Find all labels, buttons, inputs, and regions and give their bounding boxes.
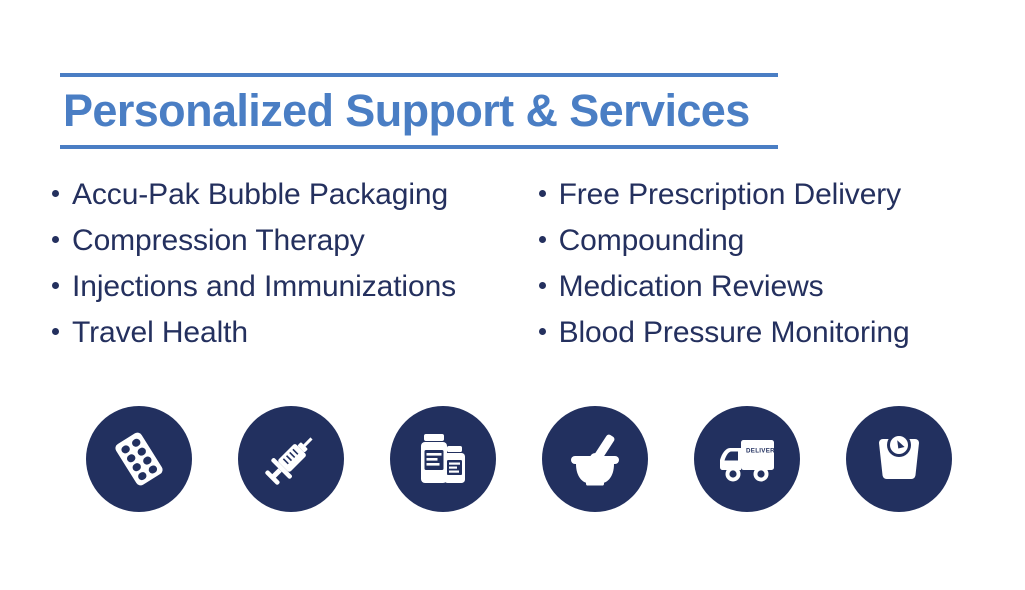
icon-badge-mortar-pestle	[542, 406, 648, 512]
list-item: Accu-Pak Bubble Packaging	[52, 178, 528, 224]
bullet-dot-icon	[539, 282, 546, 289]
weight-scale-icon	[867, 427, 931, 491]
pill-bottles-icon	[411, 427, 475, 491]
list-item: Medication Reviews	[539, 270, 1025, 316]
services-left-column: Accu-Pak Bubble Packaging Compression Th…	[0, 178, 528, 362]
service-label: Accu-Pak Bubble Packaging	[72, 178, 448, 212]
list-item: Free Prescription Delivery	[539, 178, 1025, 224]
services-columns: Accu-Pak Bubble Packaging Compression Th…	[0, 178, 1025, 362]
service-label: Compounding	[559, 224, 745, 258]
list-item: Blood Pressure Monitoring	[539, 316, 1025, 362]
service-label: Injections and Immunizations	[72, 270, 456, 304]
icon-row: DELIVERY	[86, 406, 958, 512]
syringe-icon	[259, 427, 323, 491]
bullet-dot-icon	[52, 282, 59, 289]
bullet-dot-icon	[539, 328, 546, 335]
icon-badge-syringe	[238, 406, 344, 512]
list-item: Travel Health	[52, 316, 528, 362]
bullet-dot-icon	[539, 190, 546, 197]
list-item: Compounding	[539, 224, 1025, 270]
bullet-dot-icon	[52, 236, 59, 243]
service-label: Blood Pressure Monitoring	[559, 316, 910, 350]
slide-canvas: Personalized Support & Services Accu-Pak…	[0, 0, 1025, 590]
mortar-and-pestle-icon	[563, 427, 627, 491]
service-label: Free Prescription Delivery	[559, 178, 902, 212]
icon-badge-delivery-van: DELIVERY	[694, 406, 800, 512]
list-item: Compression Therapy	[52, 224, 528, 270]
service-label: Travel Health	[72, 316, 248, 350]
delivery-van-icon: DELIVERY	[714, 426, 780, 492]
bullet-dot-icon	[52, 328, 59, 335]
service-label: Compression Therapy	[72, 224, 365, 258]
service-label: Medication Reviews	[559, 270, 824, 304]
blister-pack-icon	[107, 427, 171, 491]
icon-badge-blister-pack	[86, 406, 192, 512]
van-label: DELIVERY	[746, 448, 780, 455]
icon-badge-weight-scale	[846, 406, 952, 512]
bullet-dot-icon	[52, 190, 59, 197]
page-title: Personalized Support & Services	[60, 77, 778, 145]
title-rule-bottom	[60, 145, 778, 149]
title-block: Personalized Support & Services	[60, 73, 778, 149]
bullet-dot-icon	[539, 236, 546, 243]
list-item: Injections and Immunizations	[52, 270, 528, 316]
icon-badge-pill-bottles	[390, 406, 496, 512]
services-right-column: Free Prescription Delivery Compounding M…	[528, 178, 1025, 362]
